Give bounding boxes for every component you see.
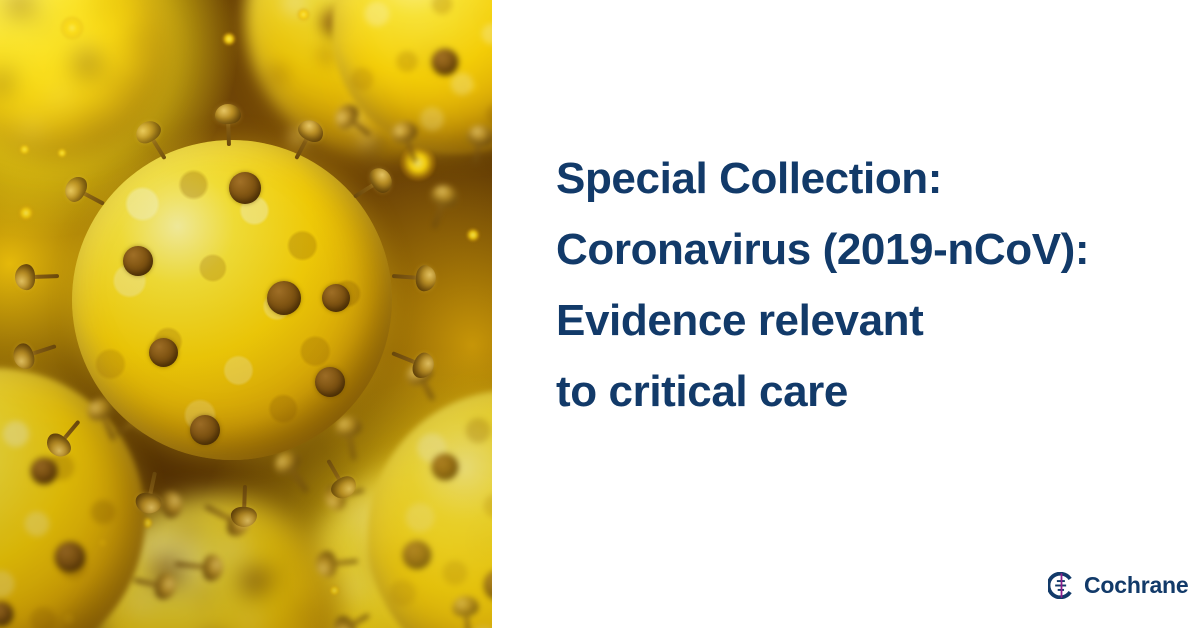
content-panel: Special Collection: Coronavirus (2019-nC… (492, 0, 1199, 628)
virus-spike (462, 127, 492, 167)
bokeh-glow (19, 144, 30, 155)
cochrane-wordmark: Cochrane (1084, 574, 1188, 597)
virus-spike (231, 485, 258, 524)
bokeh-glow (18, 205, 34, 221)
bokeh-glow (466, 228, 480, 242)
virus-surface-dot (55, 542, 85, 572)
page-title: Special Collection: Coronavirus (2019-nC… (556, 143, 1156, 427)
virus-particle-main (72, 140, 392, 460)
virus-surface-dot (403, 541, 431, 569)
virus-surface-dot (123, 246, 153, 276)
bokeh-glow (329, 585, 340, 596)
virus-surface-dot (73, 50, 99, 76)
hero-image-coronavirus (0, 0, 492, 628)
virus-spike (215, 108, 242, 147)
virus-spike (19, 263, 60, 290)
virus-particle-top-right (332, 0, 492, 154)
bokeh-glow (57, 148, 67, 158)
cochrane-logo: Cochrane (1048, 572, 1188, 599)
virus-spike-floating (451, 599, 483, 628)
cochrane-forest-plot-icon (1048, 572, 1075, 599)
virus-surface-dot (229, 172, 261, 204)
virus-spike-floating (173, 549, 220, 583)
virus-surface-dot (432, 454, 458, 480)
bokeh-glow (297, 8, 310, 21)
cochrane-special-collection-banner: Special Collection: Coronavirus (2019-nC… (0, 0, 1199, 628)
bokeh-glow (60, 16, 84, 40)
virus-surface-dot (31, 458, 57, 484)
virus-spike (319, 548, 360, 578)
virus-surface-dot (149, 338, 178, 367)
virus-surface-dot (267, 281, 301, 315)
bokeh-glow (222, 32, 236, 46)
virus-surface-dot (242, 569, 266, 593)
virus-spike (391, 263, 433, 292)
virus-surface-dot (432, 49, 458, 75)
virus-surface-dot (322, 284, 350, 312)
